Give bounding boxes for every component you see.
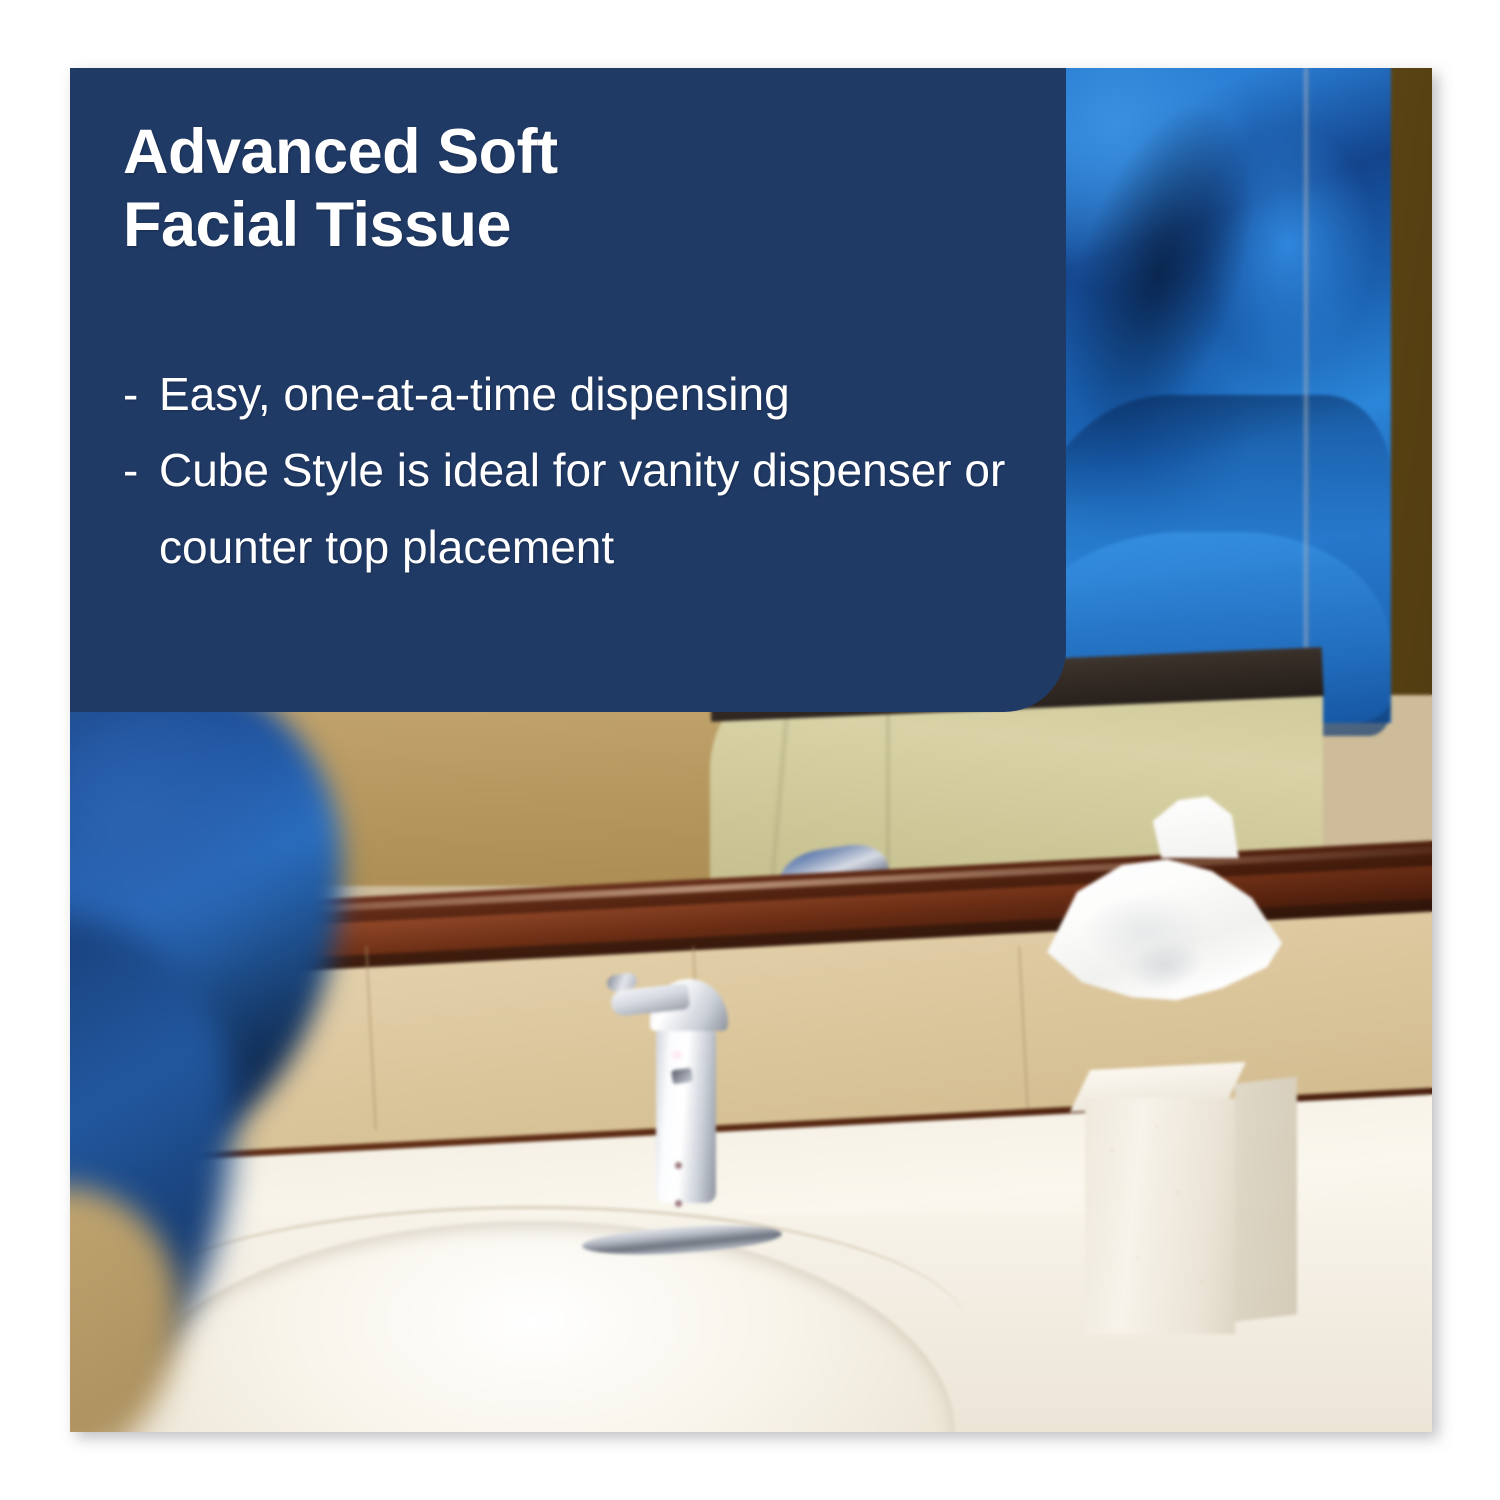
faucet-body bbox=[656, 1023, 716, 1203]
bullet-dash-icon: - bbox=[123, 356, 159, 432]
page-title: Advanced Soft Facial Tissue bbox=[123, 116, 1023, 262]
faucet-sensor bbox=[671, 1068, 693, 1085]
info-overlay-panel: Advanced Soft Facial Tissue - Easy, one-… bbox=[70, 68, 1066, 712]
list-item: - Cube Style is ideal for vanity dispens… bbox=[123, 432, 1053, 585]
feature-bullet-list: - Easy, one-at-a-time dispensing - Cube … bbox=[123, 356, 1053, 585]
bullet-dash-icon: - bbox=[123, 432, 159, 508]
faucet-indicator-dot bbox=[675, 1162, 682, 1169]
faucet-highlight bbox=[669, 1050, 685, 1060]
screenshot-stage: Advanced Soft Facial Tissue - Easy, one-… bbox=[0, 0, 1500, 1500]
list-item-label: Cube Style is ideal for vanity dispenser… bbox=[159, 432, 1053, 585]
list-item-label: Easy, one-at-a-time dispensing bbox=[159, 356, 1053, 432]
tissue-box-texture bbox=[1085, 1098, 1235, 1334]
list-item: - Easy, one-at-a-time dispensing bbox=[123, 356, 1053, 432]
faucet-indicator-dot bbox=[675, 1200, 682, 1207]
tissue-box-side bbox=[1235, 1076, 1297, 1322]
